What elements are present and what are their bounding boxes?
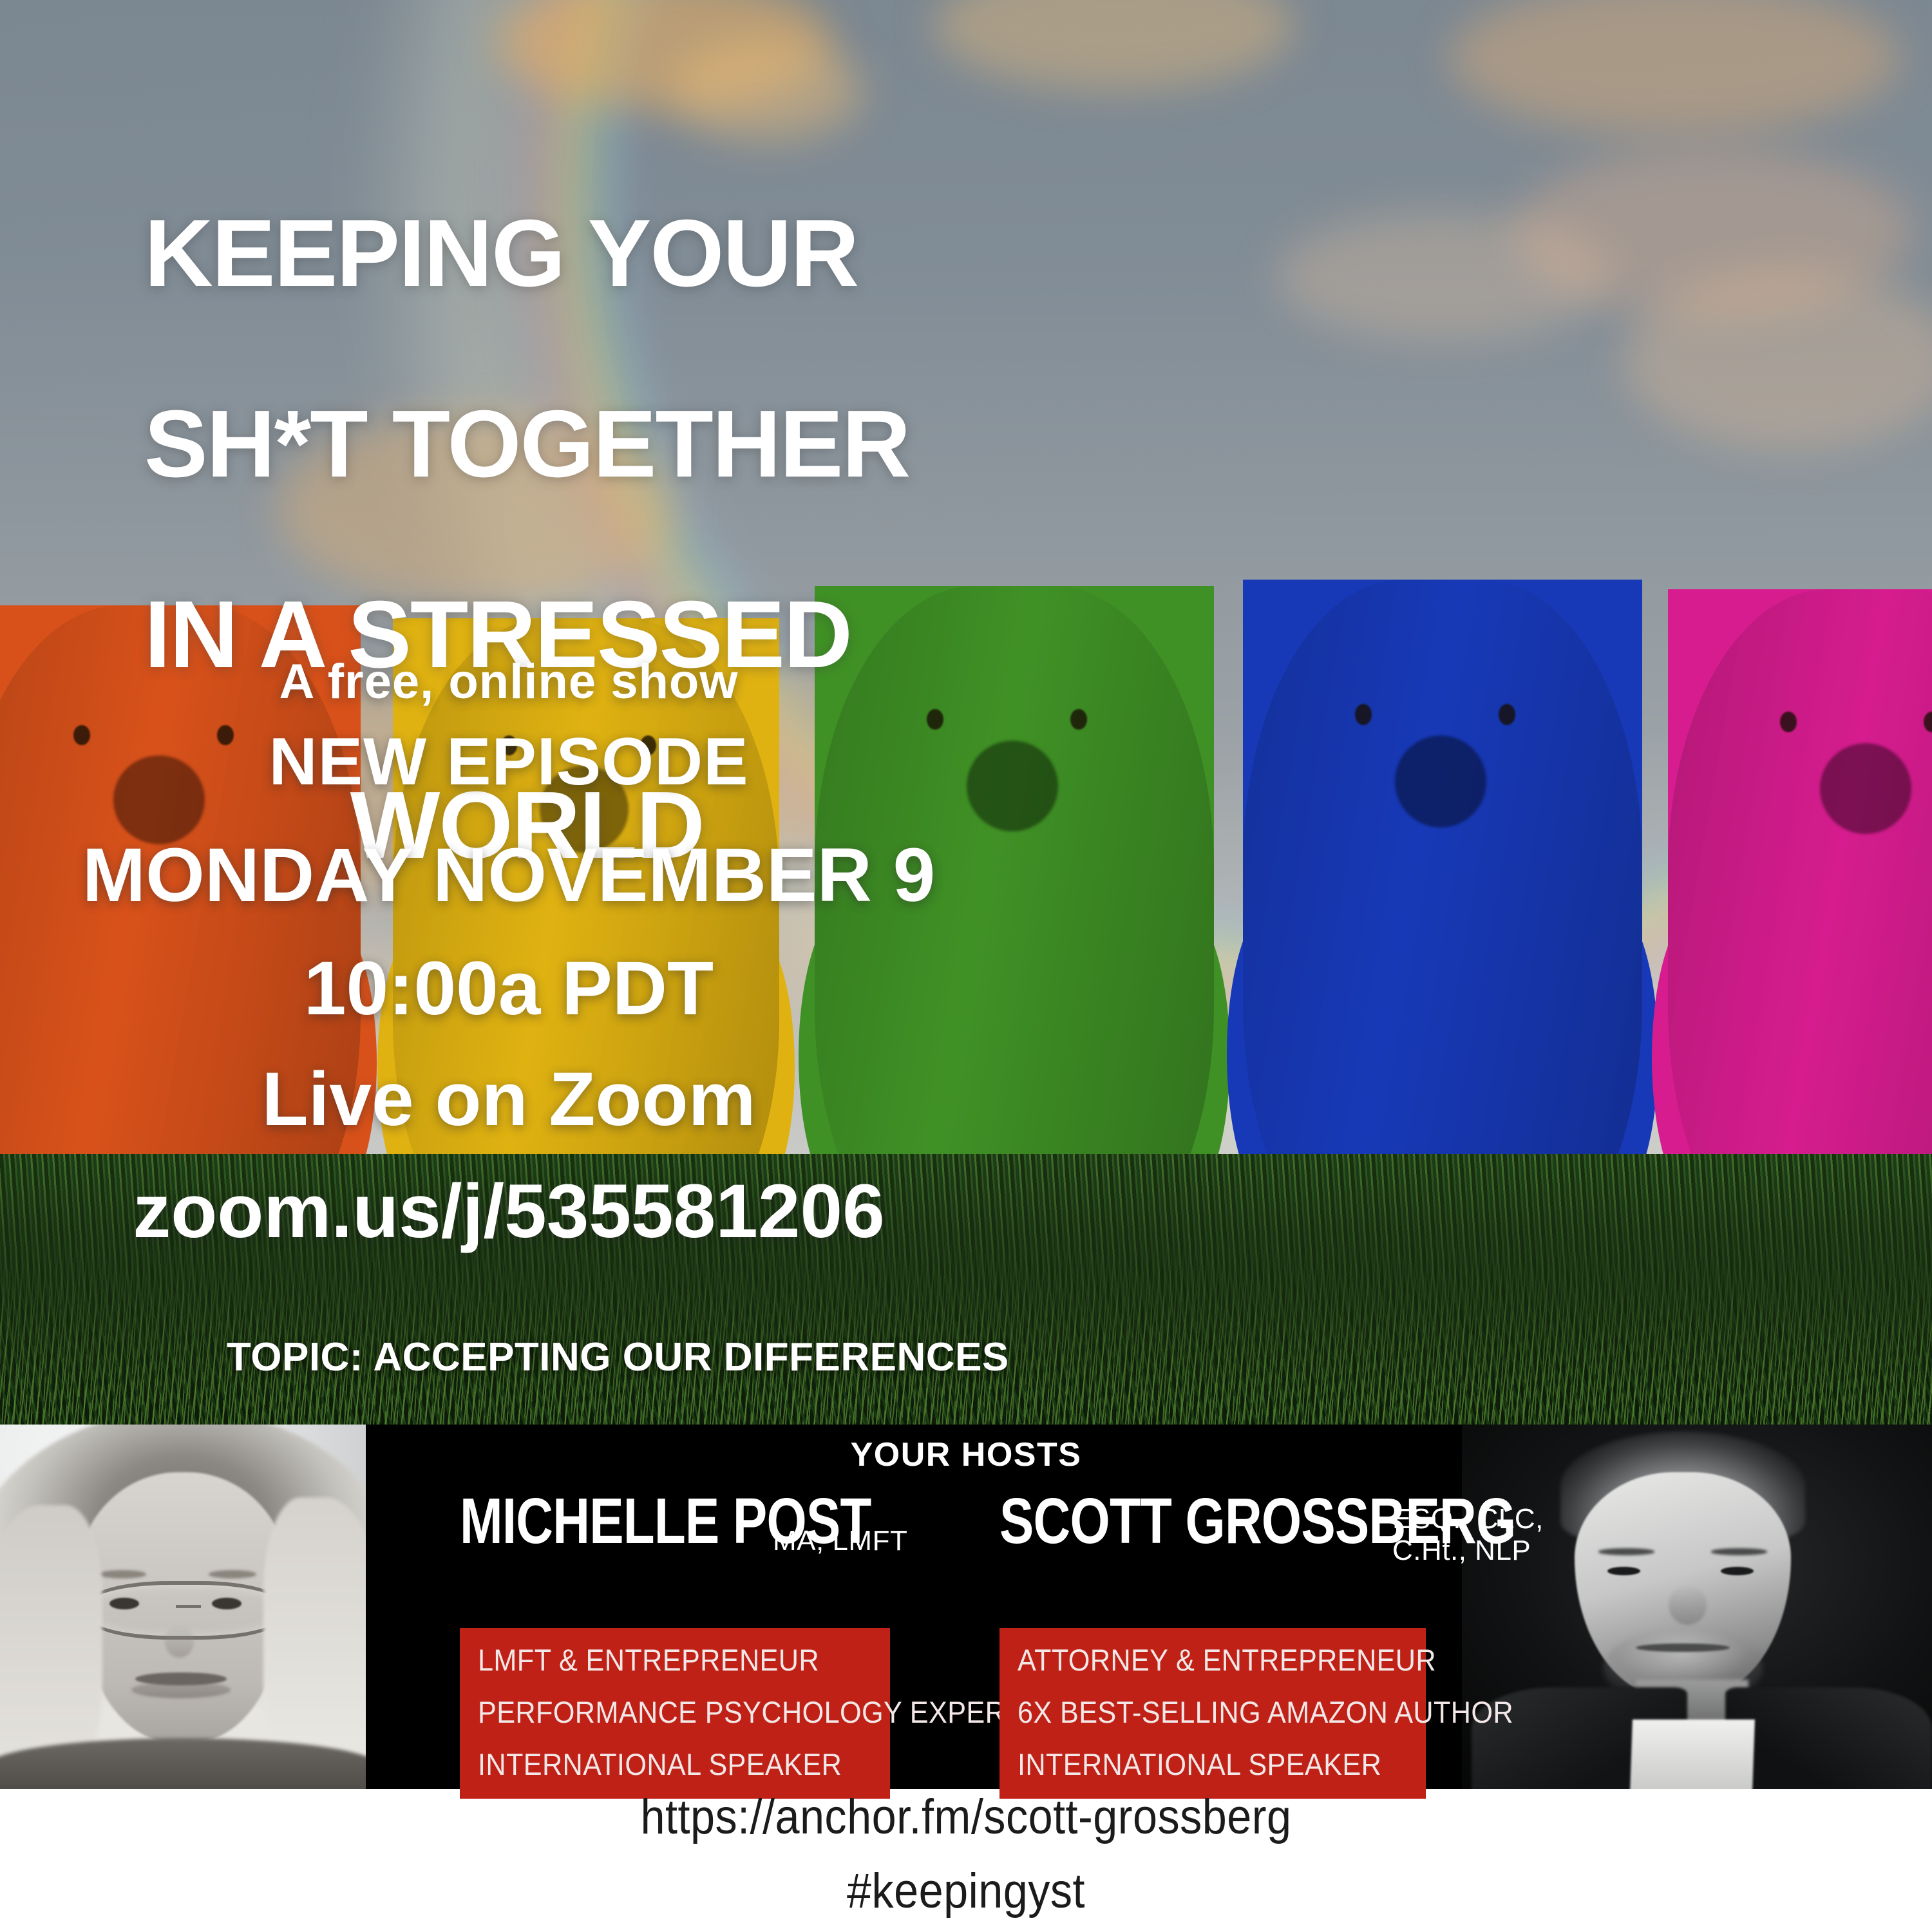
host-bullet: 6X BEST-SELLING AMAZON AUTHOR bbox=[1018, 1697, 1377, 1727]
host-bullet: INTERNATIONAL SPEAKER bbox=[1018, 1749, 1377, 1779]
hosts-banner bbox=[0, 1425, 1932, 1789]
title-line-2: SH*T TOGETHER bbox=[144, 391, 909, 497]
event-date: MONDAY NOVEMBER 9 bbox=[0, 831, 1018, 919]
host-photo-michelle-post bbox=[0, 1425, 366, 1789]
hosts-heading: YOUR HOSTS bbox=[0, 1435, 1932, 1474]
host-bullet: ATTORNEY & ENTREPRENEUR bbox=[1018, 1645, 1377, 1675]
poster-canvas: KEEPING YOUR SH*T TOGETHER IN A STRESSED… bbox=[0, 0, 1932, 1932]
host-bullet: LMFT & ENTREPRENEUR bbox=[478, 1645, 840, 1675]
host-entry-scott-grossberg: SCOTT GROSSBERG ESQ., CLC, C.Ht., NLP bbox=[999, 1489, 1645, 1553]
episode-topic: TOPIC: ACCEPTING OUR DIFFERENCES bbox=[227, 1334, 1009, 1380]
host-bullets-scott-grossberg: ATTORNEY & ENTREPRENEUR 6X BEST-SELLING … bbox=[999, 1628, 1426, 1799]
podcast-url[interactable]: https://anchor.fm/scott-grossberg bbox=[97, 1789, 1835, 1845]
title-line-1: KEEPING YOUR bbox=[144, 200, 858, 307]
event-platform: Live on Zoom bbox=[0, 1056, 1018, 1143]
host-bullet: INTERNATIONAL SPEAKER bbox=[478, 1749, 840, 1779]
footer: https://anchor.fm/scott-grossberg #keepi… bbox=[0, 1789, 1932, 1919]
host-photo-scott-grossberg bbox=[1462, 1425, 1932, 1789]
host-credentials: MA, LMFT bbox=[773, 1525, 907, 1557]
event-time: 10:00a PDT bbox=[0, 945, 1018, 1032]
host-bullets-michelle-post: LMFT & ENTREPRENEUR PERFORMANCE PSYCHOLO… bbox=[460, 1628, 890, 1799]
tagline: A free, online show bbox=[0, 654, 1018, 710]
event-details: A free, online show NEW EPISODE MONDAY N… bbox=[0, 654, 1018, 1255]
host-bullet: PERFORMANCE PSYCHOLOGY EXPERT bbox=[478, 1697, 840, 1727]
hashtag: #keepingyst bbox=[97, 1863, 1835, 1919]
episode-label: NEW EPISODE bbox=[0, 724, 1018, 800]
host-entry-michelle-post: MICHELLE POST MA, LMFT bbox=[460, 1489, 974, 1553]
zoom-link[interactable]: zoom.us/j/535581206 bbox=[0, 1168, 1018, 1255]
host-credentials: ESQ., CLC, C.Ht., NLP bbox=[1392, 1503, 1544, 1567]
